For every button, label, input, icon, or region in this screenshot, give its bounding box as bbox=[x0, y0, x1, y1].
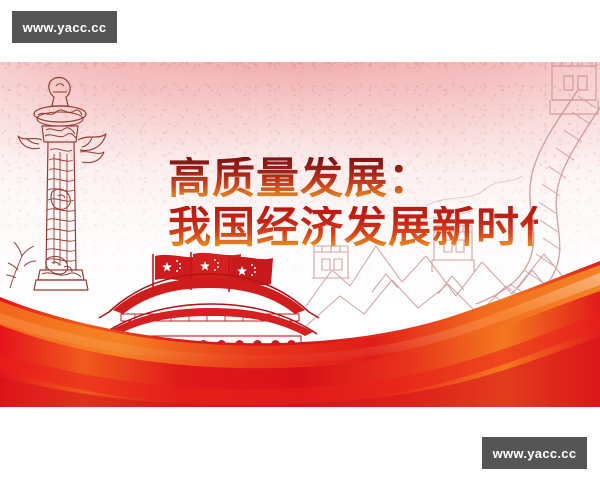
title-line-1: 高质量发展： bbox=[168, 157, 538, 203]
red-silk-ribbon bbox=[0, 257, 600, 407]
banner-artwork: 高质量发展： 我国经济发展新时代 bbox=[0, 62, 600, 407]
watermark-bottom-right-text: www.yacc.cc bbox=[493, 446, 577, 461]
watermark-top-left: www.yacc.cc bbox=[12, 11, 117, 43]
watermark-bottom-right: www.yacc.cc bbox=[482, 437, 587, 469]
title-line-2: 我国经济发展新时代 bbox=[168, 206, 538, 252]
watermark-top-left-text: www.yacc.cc bbox=[23, 20, 107, 35]
banner-title: 高质量发展： 我国经济发展新时代 bbox=[168, 157, 538, 251]
